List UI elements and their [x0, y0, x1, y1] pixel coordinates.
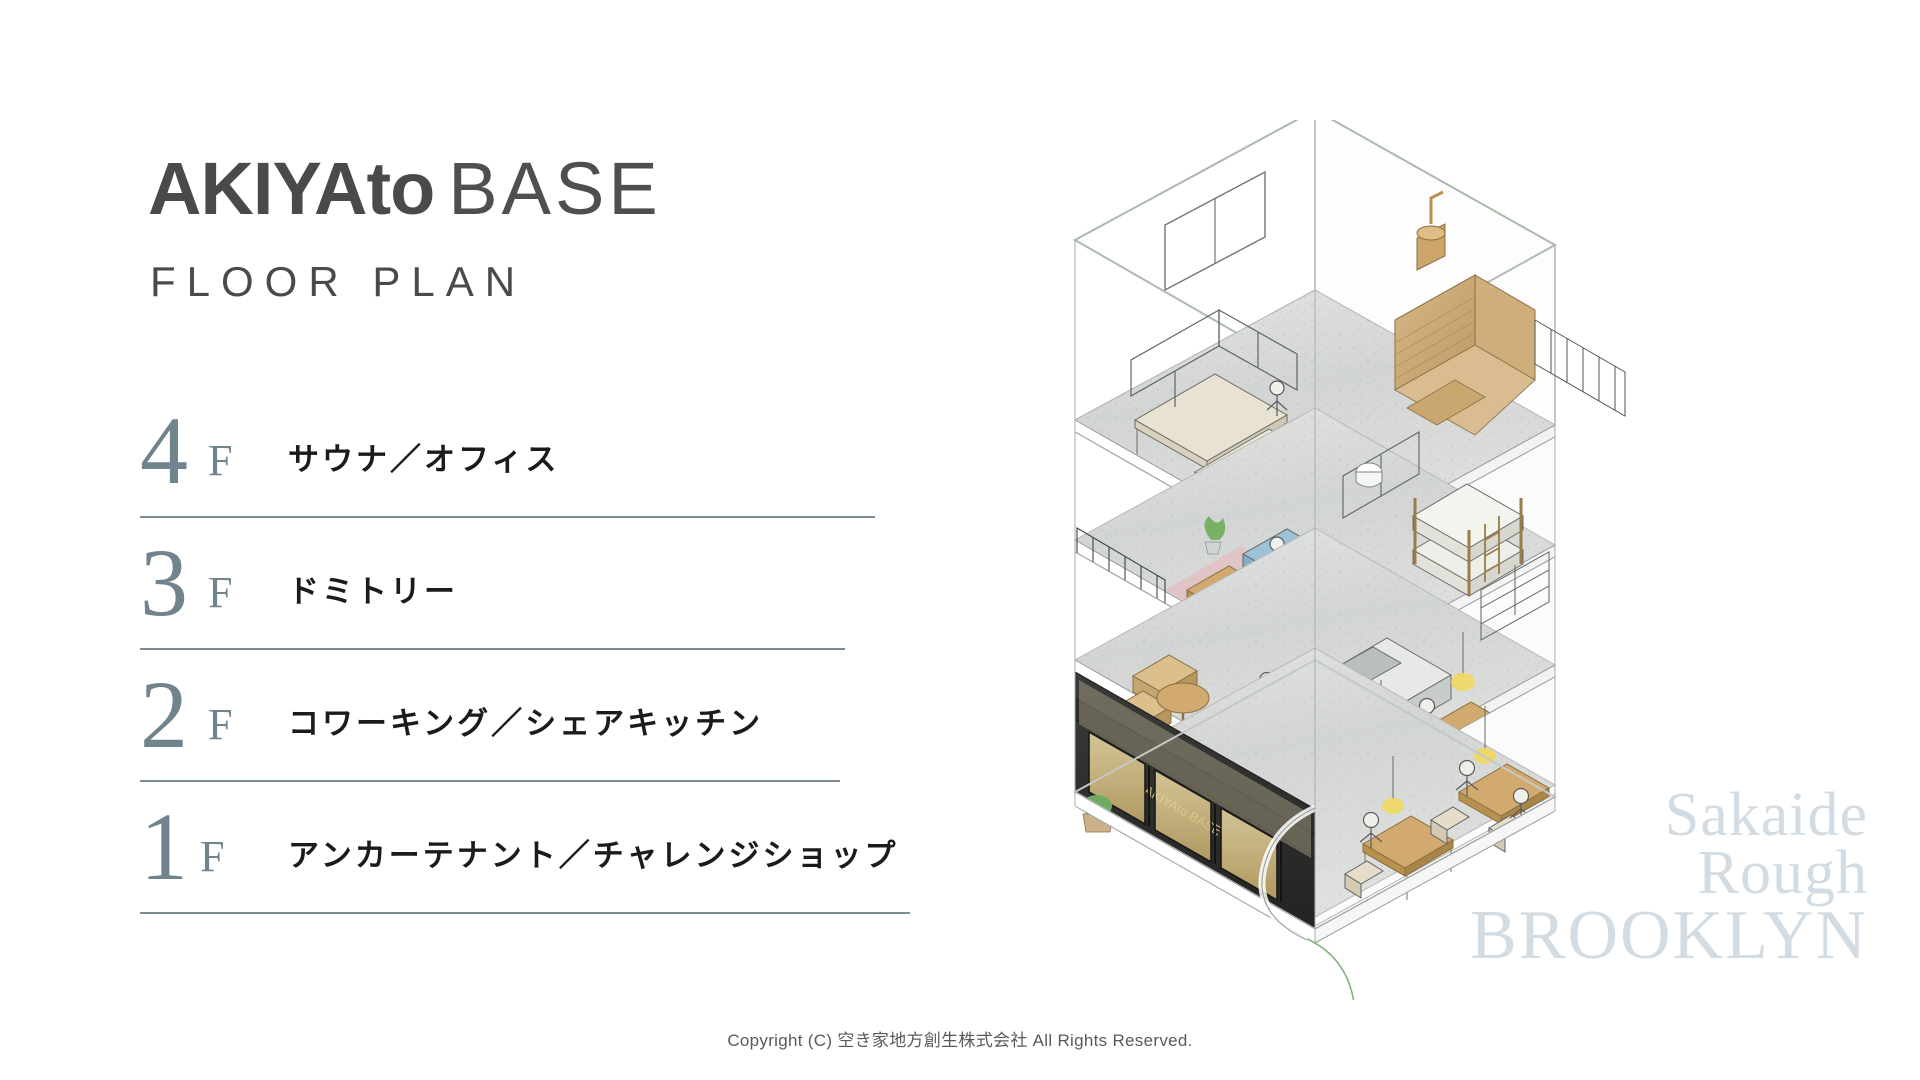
floor-suffix-2f: F	[208, 703, 232, 747]
leader-line-4f	[140, 516, 875, 518]
floor-label-2f: コワーキング／シェアキッチン	[288, 698, 763, 743]
watermark-line-3: BROOKLYN	[1470, 903, 1868, 969]
page-title: AKIYAtoBASE	[148, 152, 662, 226]
floor-label-3f: ドミトリー	[288, 566, 458, 611]
watermark-line-2: Rough	[1470, 844, 1868, 902]
page-subtitle: FLOOR PLAN	[150, 258, 526, 306]
floor-suffix-1f: F	[200, 835, 224, 879]
floor-suffix-4f: F	[208, 439, 232, 483]
watermark-line-1: Sakaide	[1470, 786, 1868, 844]
footer-copyright: Copyright (C) 空き家地方創生株式会社 All Rights Res…	[0, 1026, 1920, 1051]
floor-number-4f: 4	[140, 412, 188, 491]
floor-label-4f: サウナ／オフィス	[288, 434, 559, 479]
brand-title-strong: AKIYAto	[148, 147, 434, 230]
leader-line-3f	[140, 648, 845, 650]
bath-fixture	[1356, 463, 1382, 487]
floor-number-1f: 1	[140, 808, 188, 887]
leader-line-1f	[140, 912, 910, 914]
left-panel: AKIYAtoBASE FLOOR PLAN 4 F サウナ／オフィス 3 F …	[0, 0, 1080, 1080]
floor-suffix-3f: F	[208, 571, 232, 615]
brand-title-light: BASE	[448, 147, 661, 230]
floor-number-3f: 3	[140, 544, 188, 623]
leader-line-2f	[140, 780, 840, 782]
floor-number-2f: 2	[140, 676, 188, 755]
watermark-text: Sakaide Rough BROOKLYN	[1470, 786, 1868, 968]
floor-label-1f: アンカーテナント／チャレンジショップ	[288, 830, 898, 875]
